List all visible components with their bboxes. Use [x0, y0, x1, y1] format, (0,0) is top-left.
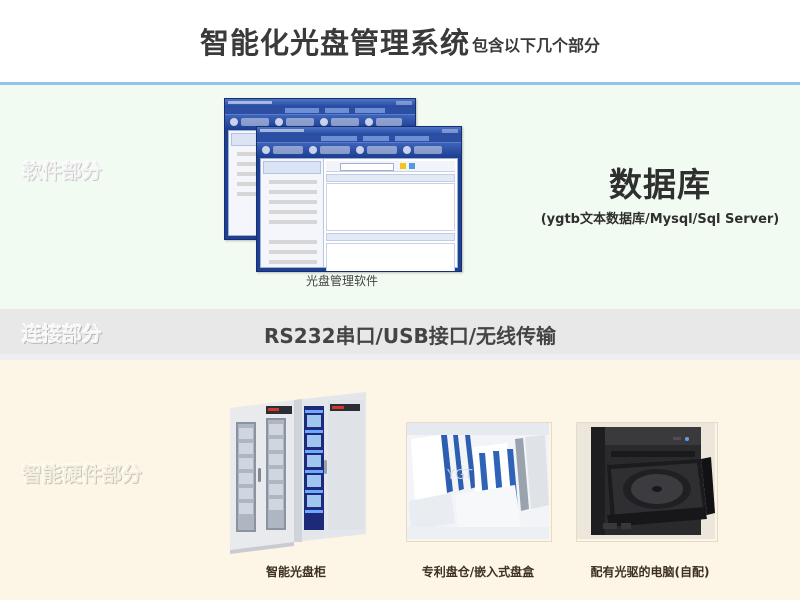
database-title: 数据库 — [520, 158, 800, 206]
window-tabstrip — [257, 135, 461, 142]
software-screenshot-caption: 光盘管理软件 — [224, 272, 460, 289]
connection-text: RS232串口/USB接口/无线传输 — [200, 320, 620, 349]
disc-cabinet-photo — [216, 382, 376, 554]
window-tabstrip — [225, 107, 415, 114]
window-content — [324, 159, 457, 267]
hardware-caption-3: 配有光驱的电脑(自配) — [570, 563, 730, 580]
app-window-front — [256, 126, 462, 272]
database-block: 数据库 (ygtb文本数据库/Mysql/Sql Server) — [520, 158, 800, 227]
software-screenshot-group — [224, 98, 460, 270]
window-sidebar — [261, 159, 324, 267]
page-title-main: 智能化光盘管理系统 — [200, 20, 470, 62]
computer-with-drive-photo — [576, 422, 718, 542]
window-titlebar — [257, 127, 461, 135]
row-label-software: 软件部分 — [22, 155, 102, 184]
row-label-connection: 连接部分 — [22, 318, 102, 347]
window-titlebar — [225, 99, 415, 107]
database-subtitle: (ygtb文本数据库/Mysql/Sql Server) — [520, 208, 800, 227]
row-label-hardware: 智能硬件部分 — [22, 458, 142, 487]
page-title-sub: 包含以下几个部分 — [472, 32, 600, 56]
window-toolbar — [257, 142, 461, 157]
svg-text:YGT: YGT — [446, 468, 473, 483]
window-client-area — [260, 158, 458, 268]
page-title: 智能化光盘管理系统 包含以下几个部分 — [0, 0, 800, 82]
hardware-caption-2: 专利盘仓/嵌入式盘盒 — [396, 563, 560, 580]
poster-root: 智能化光盘管理系统 包含以下几个部分 软件部分 连接部分 智能硬件部分 — [0, 0, 800, 600]
hardware-caption-1: 智能光盘柜 — [216, 563, 376, 580]
disc-tray-photo: YGT — [406, 422, 552, 542]
window-searchbar — [326, 161, 455, 172]
